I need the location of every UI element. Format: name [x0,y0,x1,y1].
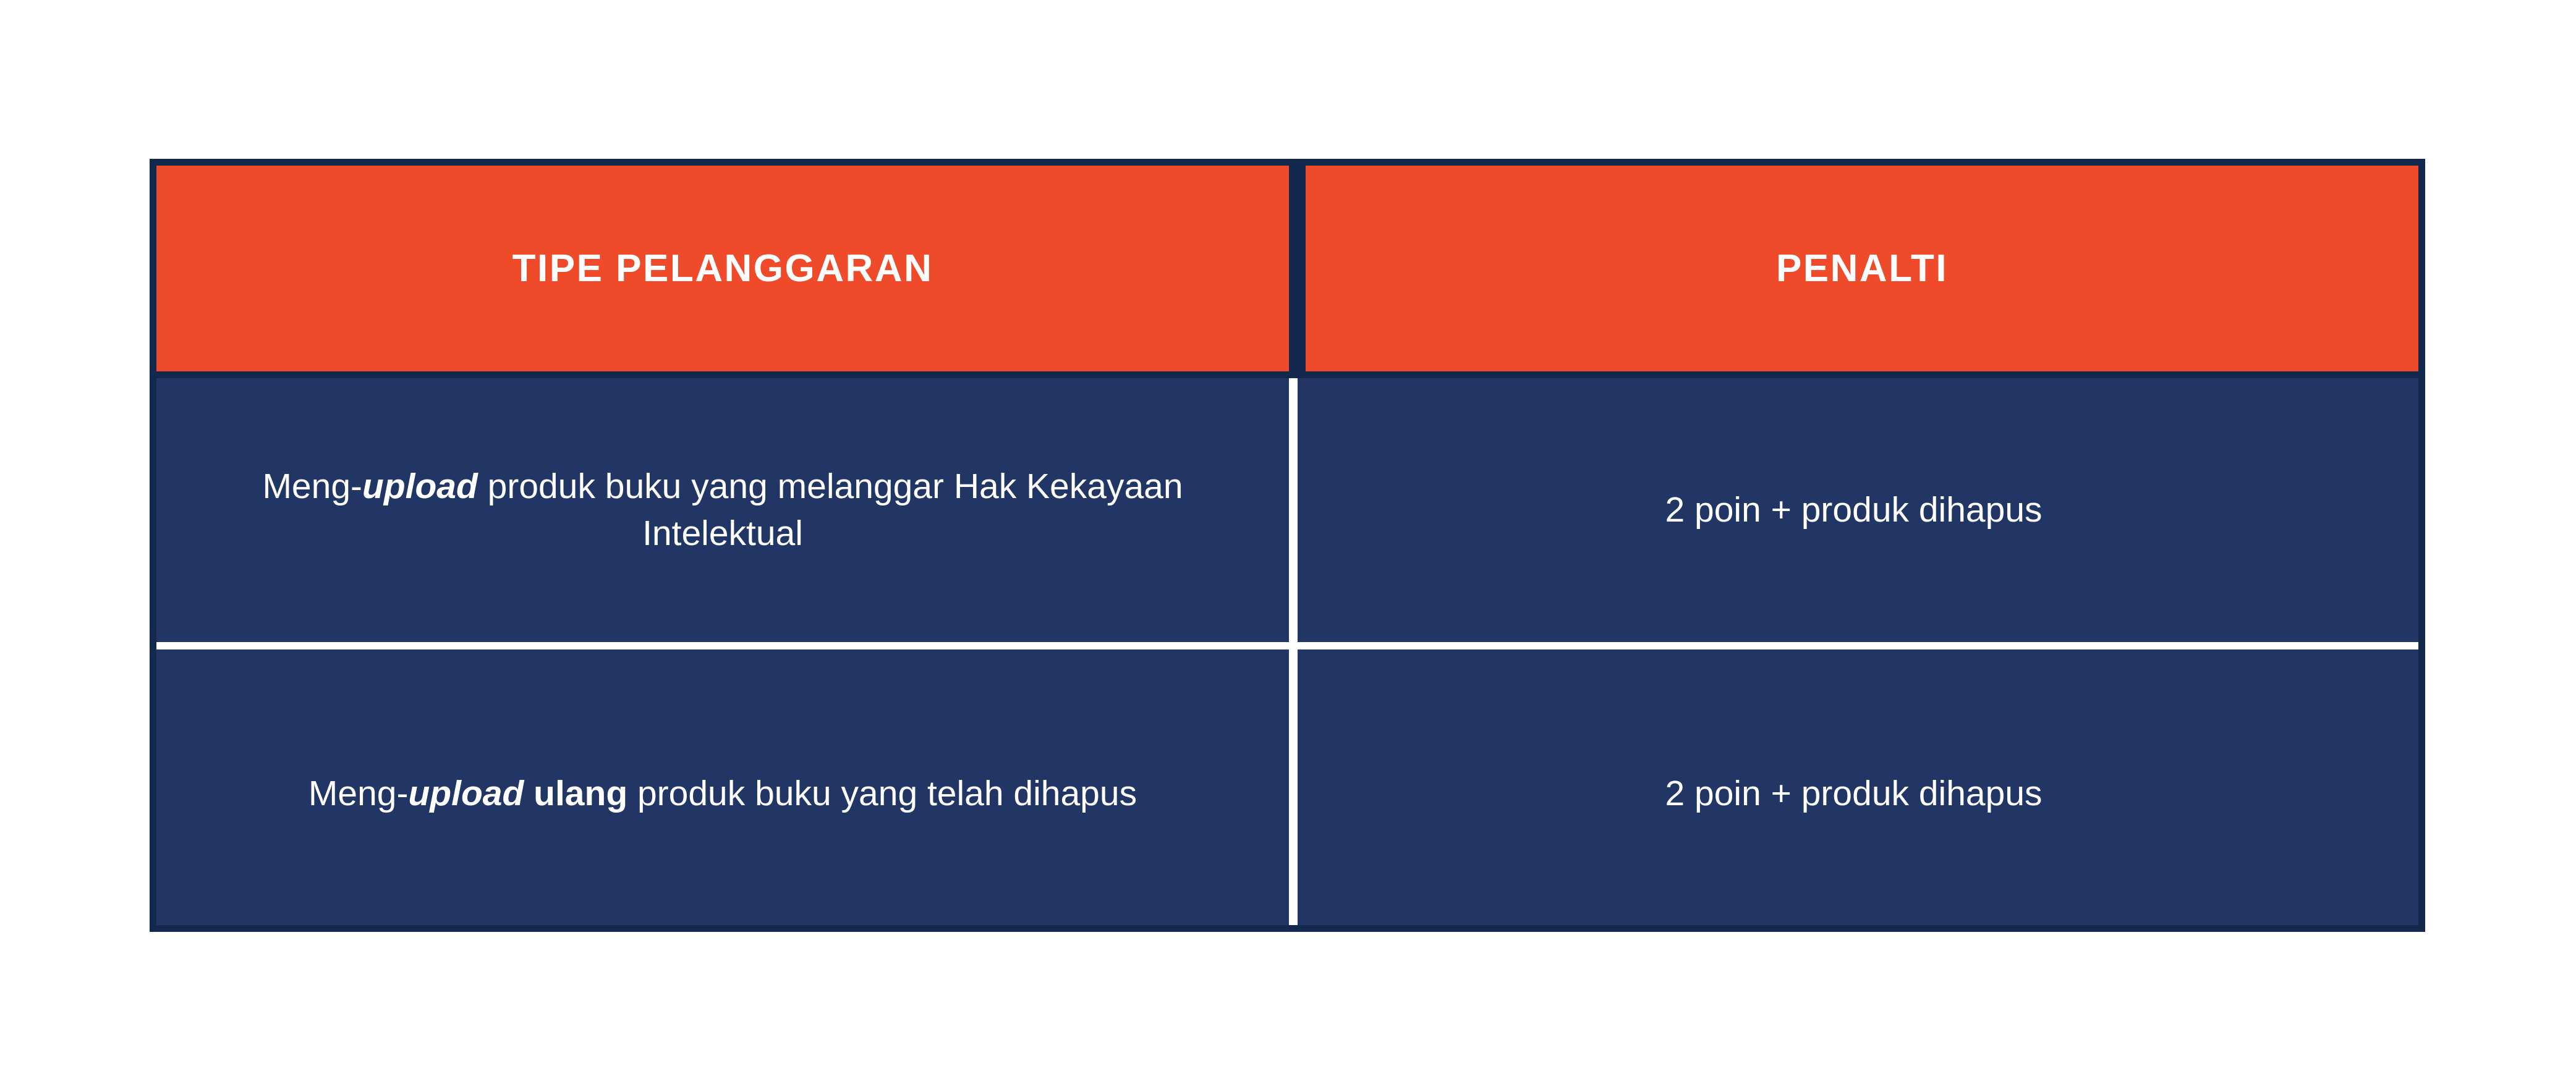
header-label-penalty: PENALTI [1776,250,1948,288]
cell-penalty: 2 poin + produk dihapus [1289,378,2418,642]
row-divider [156,642,2418,649]
cell-penalty: 2 poin + produk dihapus [1289,649,2418,939]
header-cell-violation: TIPE PELANGGARAN [156,166,1289,371]
page-canvas: TIPE PELANGGARAN PENALTI Meng-upload pro… [0,0,2576,1087]
table-row: Meng-upload ulang produk buku yang telah… [156,649,2418,939]
cell-violation: Meng-upload produk buku yang melanggar H… [156,378,1289,642]
penalty-text: 2 poin + produk dihapus [1665,487,2042,533]
body-column-divider [1289,378,1298,925]
table-inner: TIPE PELANGGARAN PENALTI Meng-upload pro… [156,166,2418,925]
table-body: Meng-upload produk buku yang melanggar H… [156,378,2418,925]
cell-violation: Meng-upload ulang produk buku yang telah… [156,649,1289,939]
header-cell-penalty: PENALTI [1306,166,2418,371]
penalty-table: TIPE PELANGGARAN PENALTI Meng-upload pro… [150,159,2425,932]
table-header-row: TIPE PELANGGARAN PENALTI [156,166,2418,371]
header-label-violation: TIPE PELANGGARAN [512,250,933,288]
violation-text: Meng-upload produk buku yang melanggar H… [181,463,1264,556]
penalty-text: 2 poin + produk dihapus [1665,771,2042,817]
header-column-divider [1289,166,1306,371]
table-row: Meng-upload produk buku yang melanggar H… [156,378,2418,642]
violation-text: Meng-upload ulang produk buku yang telah… [308,771,1137,817]
header-bottom-rule [156,371,2418,378]
